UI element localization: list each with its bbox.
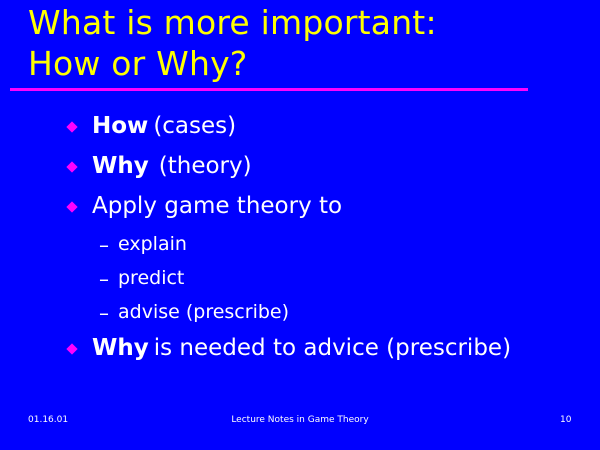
list-item-text: predict [118,267,184,289]
dash-bullet-icon: – [99,298,109,328]
list-item-emphasis: Why [92,335,149,361]
list-item: – advise (prescribe) [0,298,600,332]
dash-bullet-icon: – [99,230,109,260]
list-item-label: Apply game theory to [92,190,342,223]
list-item-label: predict [118,264,184,293]
title-divider-rule [10,88,528,91]
list-item-label: Why(theory) [92,150,252,183]
title-line-1: What is more important: [28,2,568,43]
list-item: Why(theory) [0,150,600,190]
list-item-text: (cases) [153,113,236,139]
dash-bullet-icon: – [99,264,109,294]
diamond-bullet-icon [66,121,77,132]
list-item-emphasis: How [92,113,148,139]
list-item-label: explain [118,230,187,259]
list-item-label: Whyis needed to advice (prescribe) [92,332,511,365]
footer-page-number: 10 [560,413,571,427]
footer-title: Lecture Notes in Game Theory [0,413,600,427]
slide-footer: 01.16.01 Lecture Notes in Game Theory 10 [0,410,600,430]
list-item-text: advise (prescribe) [118,301,289,323]
list-item: – predict [0,264,600,298]
list-item: How(cases) [0,110,600,150]
slide-title: What is more important: How or Why? [28,2,568,84]
list-item-emphasis: Why [92,153,149,179]
list-item: Whyis needed to advice (prescribe) [0,332,600,372]
slide-body: How(cases) Why(theory) Apply game theory… [0,110,600,372]
list-item-text: is needed to advice (prescribe) [154,335,511,361]
title-line-2: How or Why? [28,43,568,84]
diamond-bullet-icon [66,161,77,172]
list-item: Apply game theory to [0,190,600,230]
diamond-bullet-icon [66,343,77,354]
list-item-label: How(cases) [92,110,236,143]
list-item-text: Apply game theory to [92,193,342,219]
list-item-text: explain [118,233,187,255]
diamond-bullet-icon [66,201,77,212]
slide: What is more important: How or Why? How(… [0,0,600,450]
list-item: – explain [0,230,600,264]
list-item-label: advise (prescribe) [118,298,289,327]
list-item-text: (theory) [159,153,252,179]
